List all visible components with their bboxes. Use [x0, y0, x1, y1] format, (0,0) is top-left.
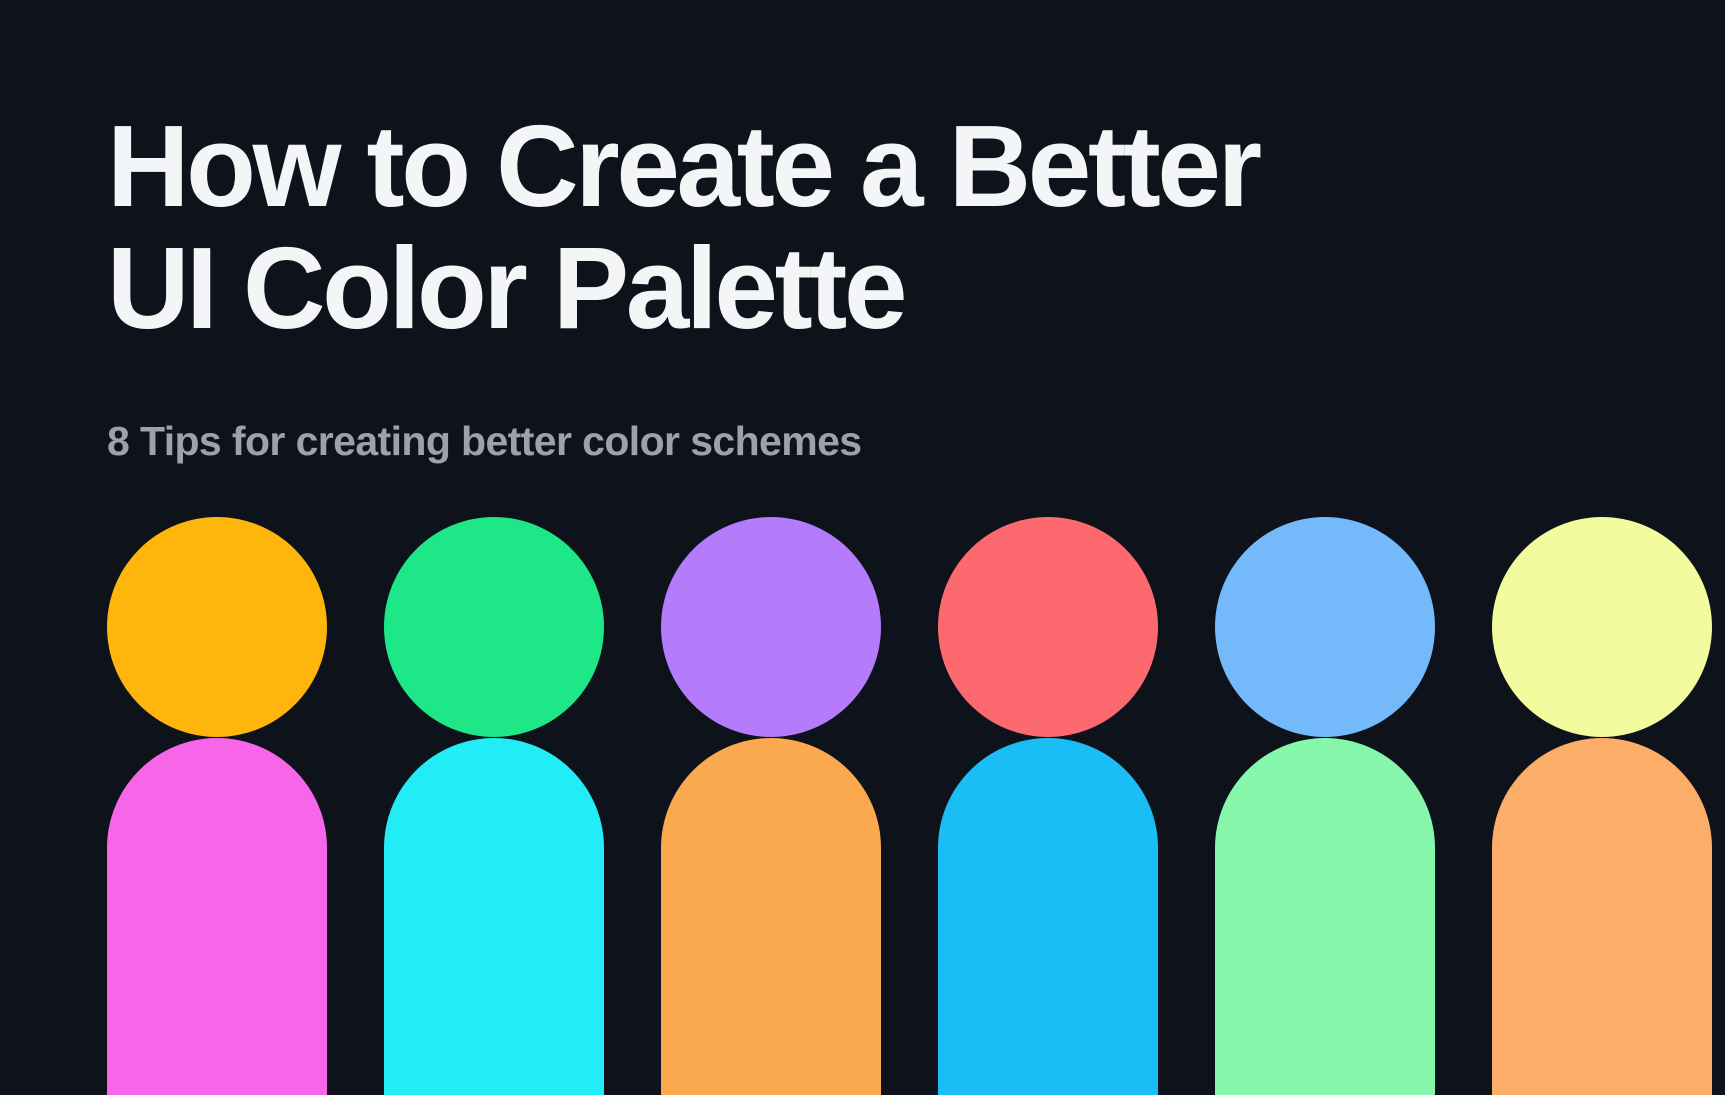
- color-arch-magenta: [107, 738, 327, 1095]
- title-block: How to Create a Better UI Color Palette …: [107, 105, 1427, 465]
- swatch-cyan[interactable]: [384, 738, 604, 1095]
- swatch-mint-green[interactable]: [1215, 738, 1435, 1095]
- color-swatch-grid: [0, 517, 1725, 1095]
- page-subtitle: 8 Tips for creating better color schemes: [107, 349, 1427, 465]
- color-arch-mint-green: [1215, 738, 1435, 1095]
- page-title: How to Create a Better UI Color Palette: [107, 105, 1407, 349]
- swatch-magenta[interactable]: [107, 738, 327, 1095]
- swatch-row-circles: [107, 517, 1712, 737]
- color-circle-pale-yellow: [1492, 517, 1712, 737]
- color-arch-light-orange: [1492, 738, 1712, 1095]
- color-arch-orange: [661, 738, 881, 1095]
- color-circle-spring-green: [384, 517, 604, 737]
- swatch-light-blue[interactable]: [1215, 517, 1435, 737]
- swatch-orange[interactable]: [661, 738, 881, 1095]
- swatch-amber[interactable]: [107, 517, 327, 737]
- swatch-medium-purple[interactable]: [661, 517, 881, 737]
- swatch-spring-green[interactable]: [384, 517, 604, 737]
- swatch-row-arches: [107, 738, 1712, 1095]
- poster-canvas: How to Create a Better UI Color Palette …: [0, 0, 1725, 1095]
- swatch-sky-blue[interactable]: [938, 738, 1158, 1095]
- color-arch-sky-blue: [938, 738, 1158, 1095]
- color-circle-coral-red: [938, 517, 1158, 737]
- swatch-light-orange[interactable]: [1492, 738, 1712, 1095]
- color-circle-medium-purple: [661, 517, 881, 737]
- swatch-pale-yellow[interactable]: [1492, 517, 1712, 737]
- swatch-coral-red[interactable]: [938, 517, 1158, 737]
- color-circle-light-blue: [1215, 517, 1435, 737]
- color-arch-cyan: [384, 738, 604, 1095]
- color-circle-amber: [107, 517, 327, 737]
